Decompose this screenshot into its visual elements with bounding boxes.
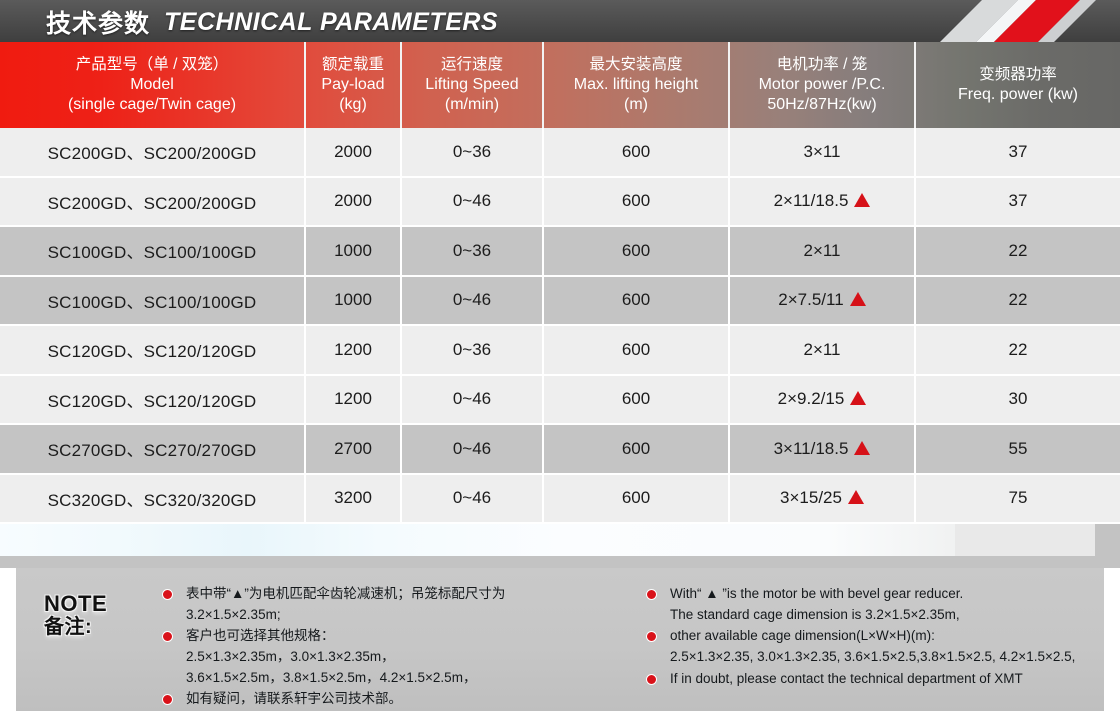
cell-model: SC200GD、SC200/200GD: [0, 177, 305, 227]
page-title: 技术参数 TECHNICAL PARAMETERS: [46, 3, 498, 41]
note-line: 3.6×1.5×2.5m，3.8×1.5×2.5m，4.2×1.5×2.5m，: [186, 668, 624, 689]
column-header-height-cn: 最大安装高度: [544, 55, 728, 75]
note-line: The standard cage dimension is 3.2×1.5×2…: [670, 605, 1094, 626]
cell-model: SC200GD、SC200/200GD: [0, 128, 305, 177]
column-header-speed-unit: (m/min): [402, 95, 542, 115]
motor-power-value: 3×15/25: [780, 488, 842, 507]
page-title-en: TECHNICAL PARAMETERS: [164, 8, 498, 37]
cell-speed: 0~36: [401, 226, 543, 276]
cell-speed: 0~46: [401, 177, 543, 227]
table-row: SC270GD、SC270/270GD27000~466003×11/18.55…: [0, 424, 1120, 474]
footer-band-block-light: [955, 524, 1095, 556]
table-row: SC320GD、SC320/320GD32000~466003×15/2575: [0, 474, 1120, 524]
note-line: 2.5×1.3×2.35m，3.0×1.3×2.35m，: [186, 647, 624, 668]
cell-speed: 0~36: [401, 128, 543, 177]
column-header-model-en: Model: [0, 75, 304, 95]
cell-height: 600: [543, 226, 729, 276]
cell-height: 600: [543, 325, 729, 375]
diagonal-stripe-decoration-icon: [940, 0, 1120, 42]
bullet-icon: [162, 694, 173, 705]
note-item-lines: With“ ▲ ”is the motor be with bevel gear…: [670, 584, 1094, 625]
column-header-height: 最大安装高度 Max. lifting height (m): [543, 42, 729, 128]
bevel-gear-triangle-icon: [850, 292, 866, 306]
cell-freq-power: 37: [915, 128, 1120, 177]
table-header-row: 产品型号（单 / 双笼） Model (single cage/Twin cag…: [0, 42, 1120, 128]
column-header-payload-unit: (kg): [306, 95, 400, 115]
cell-payload: 1000: [305, 226, 401, 276]
cell-speed: 0~46: [401, 474, 543, 524]
cell-height: 600: [543, 177, 729, 227]
cell-model: SC120GD、SC120/120GD: [0, 375, 305, 425]
column-header-speed-cn: 运行速度: [402, 55, 542, 75]
cell-motor-power: 3×15/25: [729, 474, 915, 524]
cell-motor-power: 2×7.5/11: [729, 276, 915, 326]
note-line: 表中带“▲”为电机匹配伞齿轮减速机；吊笼标配尺寸为: [186, 584, 624, 605]
motor-power-value: 2×9.2/15: [778, 389, 845, 408]
column-header-freq-power: 变频器功率 Freq. power (kw): [915, 42, 1120, 128]
note-label-en: NOTE: [44, 591, 144, 616]
cell-payload: 1000: [305, 276, 401, 326]
note-label-cn: 备注:: [44, 616, 144, 639]
cell-freq-power: 22: [915, 325, 1120, 375]
note-line: 如有疑问，请联系轩宇公司技术部。: [186, 689, 624, 710]
cell-model: SC320GD、SC320/320GD: [0, 474, 305, 524]
motor-power-value: 2×11/18.5: [774, 191, 849, 210]
column-header-model: 产品型号（单 / 双笼） Model (single cage/Twin cag…: [0, 42, 305, 128]
cell-motor-power: 2×11/18.5: [729, 177, 915, 227]
note-item-lines: 表中带“▲”为电机匹配伞齿轮减速机；吊笼标配尺寸为3.2×1.5×2.35m;: [186, 584, 624, 625]
motor-power-value: 3×11/18.5: [774, 439, 849, 458]
table-row: SC120GD、SC120/120GD12000~466002×9.2/1530: [0, 375, 1120, 425]
cell-motor-power: 2×11: [729, 325, 915, 375]
column-header-motor-power-cn: 电机功率 / 笼: [730, 55, 914, 75]
cell-freq-power: 55: [915, 424, 1120, 474]
motor-power-value: 2×11: [803, 340, 840, 359]
table-row: SC100GD、SC100/100GD10000~366002×1122: [0, 226, 1120, 276]
cell-height: 600: [543, 375, 729, 425]
note-item: other available cage dimension(L×W×H)(m)…: [646, 626, 1094, 667]
table-row: SC120GD、SC120/120GD12000~366002×1122: [0, 325, 1120, 375]
cell-freq-power: 22: [915, 276, 1120, 326]
cell-speed: 0~46: [401, 276, 543, 326]
table-row: SC200GD、SC200/200GD20000~366003×1137: [0, 128, 1120, 177]
note-item-lines: 客户也可选择其他规格：2.5×1.3×2.35m，3.0×1.3×2.35m，3…: [186, 626, 624, 688]
note-line: 2.5×1.3×2.35, 3.0×1.3×2.35, 3.6×1.5×2.5,…: [670, 647, 1094, 668]
bullet-icon: [162, 589, 173, 600]
cell-payload: 1200: [305, 375, 401, 425]
technical-parameters-table: 产品型号（单 / 双笼） Model (single cage/Twin cag…: [0, 42, 1120, 524]
note-line: 3.2×1.5×2.35m;: [186, 605, 624, 626]
note-line: other available cage dimension(L×W×H)(m)…: [670, 626, 1094, 647]
note-list-chinese: 表中带“▲”为电机匹配伞齿轮减速机；吊笼标配尺寸为3.2×1.5×2.35m;客…: [144, 584, 624, 711]
table-footer-band: [0, 524, 1120, 568]
cell-speed: 0~36: [401, 325, 543, 375]
column-header-freq-power-cn: 变频器功率: [916, 65, 1120, 85]
cell-height: 600: [543, 424, 729, 474]
column-header-motor-power-en: Motor power /P.C.: [730, 75, 914, 95]
motor-power-value: 2×7.5/11: [778, 290, 843, 309]
page-title-cn: 技术参数: [46, 4, 150, 40]
cell-freq-power: 37: [915, 177, 1120, 227]
column-header-model-cn: 产品型号（单 / 双笼）: [0, 55, 304, 75]
column-header-speed-en: Lifting Speed: [402, 75, 542, 95]
column-header-height-en: Max. lifting height: [544, 75, 728, 95]
cell-model: SC100GD、SC100/100GD: [0, 226, 305, 276]
note-label: NOTE 备注:: [44, 584, 144, 711]
note-line: If in doubt, please contact the technica…: [670, 669, 1094, 690]
note-list-english: With“ ▲ ”is the motor be with bevel gear…: [624, 584, 1094, 711]
note-panel: NOTE 备注: 表中带“▲”为电机匹配伞齿轮减速机；吊笼标配尺寸为3.2×1.…: [16, 568, 1104, 711]
column-header-motor-power-unit: 50Hz/87Hz(kw): [730, 95, 914, 115]
note-item: With“ ▲ ”is the motor be with bevel gear…: [646, 584, 1094, 625]
cell-payload: 2000: [305, 177, 401, 227]
column-header-payload-en: Pay-load: [306, 75, 400, 95]
column-header-motor-power: 电机功率 / 笼 Motor power /P.C. 50Hz/87Hz(kw): [729, 42, 915, 128]
cell-height: 600: [543, 128, 729, 177]
cell-freq-power: 22: [915, 226, 1120, 276]
cell-speed: 0~46: [401, 375, 543, 425]
footer-band-strip: [0, 556, 1120, 568]
table-row: SC200GD、SC200/200GD20000~466002×11/18.53…: [0, 177, 1120, 227]
cell-payload: 3200: [305, 474, 401, 524]
cell-model: SC100GD、SC100/100GD: [0, 276, 305, 326]
bevel-gear-triangle-icon: [854, 193, 870, 207]
note-item: 表中带“▲”为电机匹配伞齿轮减速机；吊笼标配尺寸为3.2×1.5×2.35m;: [162, 584, 624, 625]
column-header-speed: 运行速度 Lifting Speed (m/min): [401, 42, 543, 128]
note-item: 如有疑问，请联系轩宇公司技术部。: [162, 689, 624, 710]
bevel-gear-triangle-icon: [850, 391, 866, 405]
cell-model: SC120GD、SC120/120GD: [0, 325, 305, 375]
bullet-icon: [646, 631, 657, 642]
column-header-height-unit: (m): [544, 95, 728, 115]
column-header-payload-cn: 额定载重: [306, 55, 400, 75]
note-item: 客户也可选择其他规格：2.5×1.3×2.35m，3.0×1.3×2.35m，3…: [162, 626, 624, 688]
table-header: 产品型号（单 / 双笼） Model (single cage/Twin cag…: [0, 42, 1120, 128]
cell-motor-power: 3×11/18.5: [729, 424, 915, 474]
note-line: 客户也可选择其他规格：: [186, 626, 624, 647]
cell-height: 600: [543, 276, 729, 326]
bullet-icon: [646, 674, 657, 685]
cell-model: SC270GD、SC270/270GD: [0, 424, 305, 474]
bevel-gear-triangle-icon: [854, 441, 870, 455]
column-header-freq-power-en: Freq. power (kw): [916, 85, 1120, 105]
cell-motor-power: 3×11: [729, 128, 915, 177]
title-bar: 技术参数 TECHNICAL PARAMETERS: [0, 0, 1120, 42]
note-item-lines: 如有疑问，请联系轩宇公司技术部。: [186, 689, 624, 710]
column-header-payload: 额定载重 Pay-load (kg): [305, 42, 401, 128]
motor-power-value: 2×11: [803, 241, 840, 260]
cell-motor-power: 2×11: [729, 226, 915, 276]
cell-payload: 2700: [305, 424, 401, 474]
bullet-icon: [646, 589, 657, 600]
column-header-model-unit: (single cage/Twin cage): [0, 95, 304, 115]
cell-payload: 2000: [305, 128, 401, 177]
note-item: If in doubt, please contact the technica…: [646, 669, 1094, 690]
cell-motor-power: 2×9.2/15: [729, 375, 915, 425]
note-line: With“ ▲ ”is the motor be with bevel gear…: [670, 584, 1094, 605]
cell-height: 600: [543, 474, 729, 524]
footer-band-block-dark: [1095, 524, 1120, 556]
cell-speed: 0~46: [401, 424, 543, 474]
motor-power-value: 3×11: [803, 142, 840, 161]
cell-payload: 1200: [305, 325, 401, 375]
cell-freq-power: 75: [915, 474, 1120, 524]
bullet-icon: [162, 631, 173, 642]
table-row: SC100GD、SC100/100GD10000~466002×7.5/1122: [0, 276, 1120, 326]
note-item-lines: If in doubt, please contact the technica…: [670, 669, 1094, 690]
table-body: SC200GD、SC200/200GD20000~366003×1137SC20…: [0, 128, 1120, 523]
note-item-lines: other available cage dimension(L×W×H)(m)…: [670, 626, 1094, 667]
cell-freq-power: 30: [915, 375, 1120, 425]
bevel-gear-triangle-icon: [848, 490, 864, 504]
